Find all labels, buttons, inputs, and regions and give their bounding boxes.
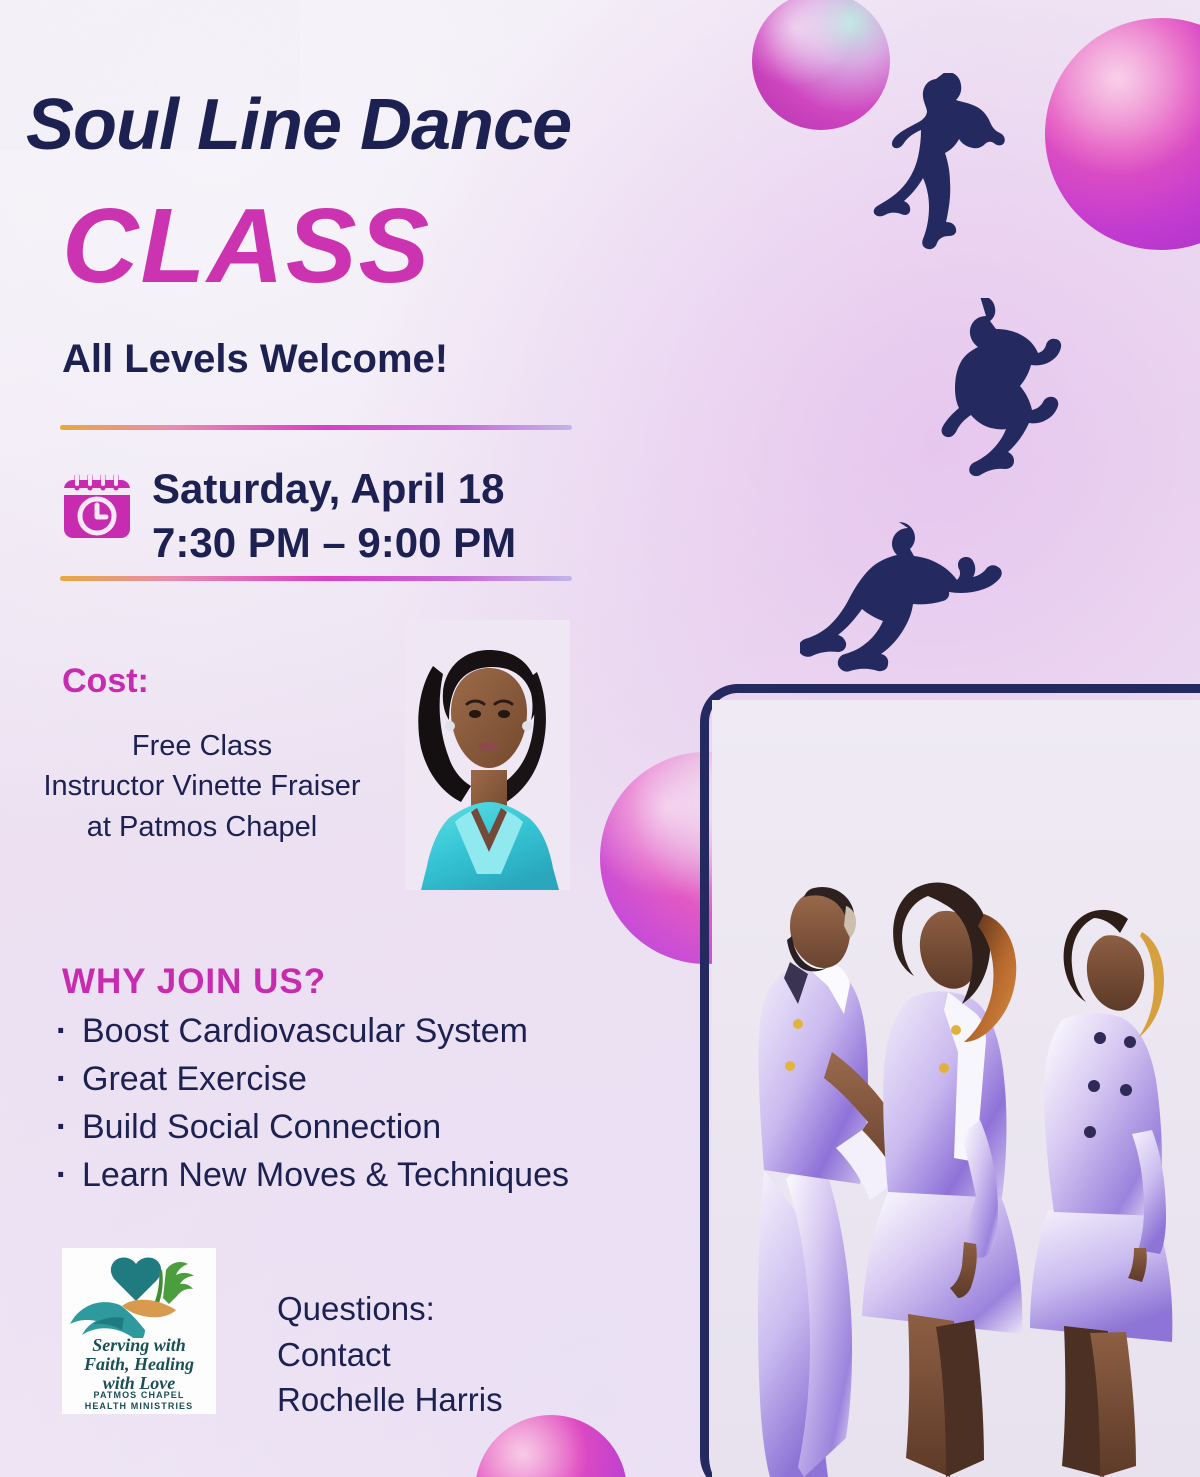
why-join-heading: WHY JOIN US?: [62, 962, 326, 1002]
logo-tagline: Serving with Faith, Healing with Love: [62, 1336, 216, 1393]
patmos-chapel-logo: Serving with Faith, Healing with Love PA…: [62, 1248, 216, 1414]
logo-org-line1: PATMOS CHAPEL: [62, 1390, 216, 1401]
dancer-silhouette-middle: [938, 298, 1108, 503]
cost-line-1: Free Class: [0, 726, 404, 766]
logo-mark-icon: [62, 1248, 216, 1338]
schedule-text: Saturday, April 18 7:30 PM – 9:00 PM: [152, 462, 516, 570]
cost-line-3: at Patmos Chapel: [0, 807, 404, 847]
divider-top: [60, 425, 572, 430]
list-item: Boost Cardiovascular System: [56, 1008, 569, 1056]
logo-tagline-line2: Faith, Healing: [62, 1355, 216, 1374]
contact-info: Questions: Contact Rochelle Harris: [277, 1286, 503, 1423]
dancer-silhouette-bottom: [800, 490, 1040, 690]
why-join-list: Boost Cardiovascular System Great Exerci…: [56, 1008, 569, 1200]
instructor-photo: [405, 620, 570, 890]
list-item: Build Social Connection: [56, 1104, 569, 1152]
schedule-date: Saturday, April 18: [152, 462, 516, 516]
logo-org-line2: HEALTH MINISTRIES: [62, 1401, 216, 1412]
divider-bottom: [60, 576, 572, 581]
logo-tagline-line1: Serving with: [62, 1336, 216, 1355]
dancer-silhouette-top: [870, 73, 1020, 283]
cost-line-2: Instructor Vinette Fraiser: [0, 766, 404, 806]
cost-label: Cost:: [62, 662, 149, 701]
sphere-bottom-center: [475, 1415, 627, 1477]
calendar-clock-icon: [58, 466, 136, 544]
flyer-canvas: Soul Line Dance CLASS All Levels Welcome…: [0, 0, 1200, 1477]
cost-details: Free Class Instructor Vinette Fraiser at…: [0, 726, 404, 847]
logo-organization: PATMOS CHAPEL HEALTH MINISTRIES: [62, 1390, 216, 1413]
contact-line-3: Rochelle Harris: [277, 1377, 503, 1423]
list-item: Great Exercise: [56, 1056, 569, 1104]
page-title-line2: CLASS: [62, 186, 431, 307]
page-subtitle: All Levels Welcome!: [62, 337, 448, 382]
sphere-top-right: [1045, 18, 1200, 250]
dancers-photo: [712, 700, 1200, 1477]
contact-line-1: Questions:: [277, 1286, 503, 1332]
schedule-time: 7:30 PM – 9:00 PM: [152, 516, 516, 570]
list-item: Learn New Moves & Techniques: [56, 1152, 569, 1200]
contact-line-2: Contact: [277, 1332, 503, 1378]
page-title-line1: Soul Line Dance: [26, 84, 571, 166]
